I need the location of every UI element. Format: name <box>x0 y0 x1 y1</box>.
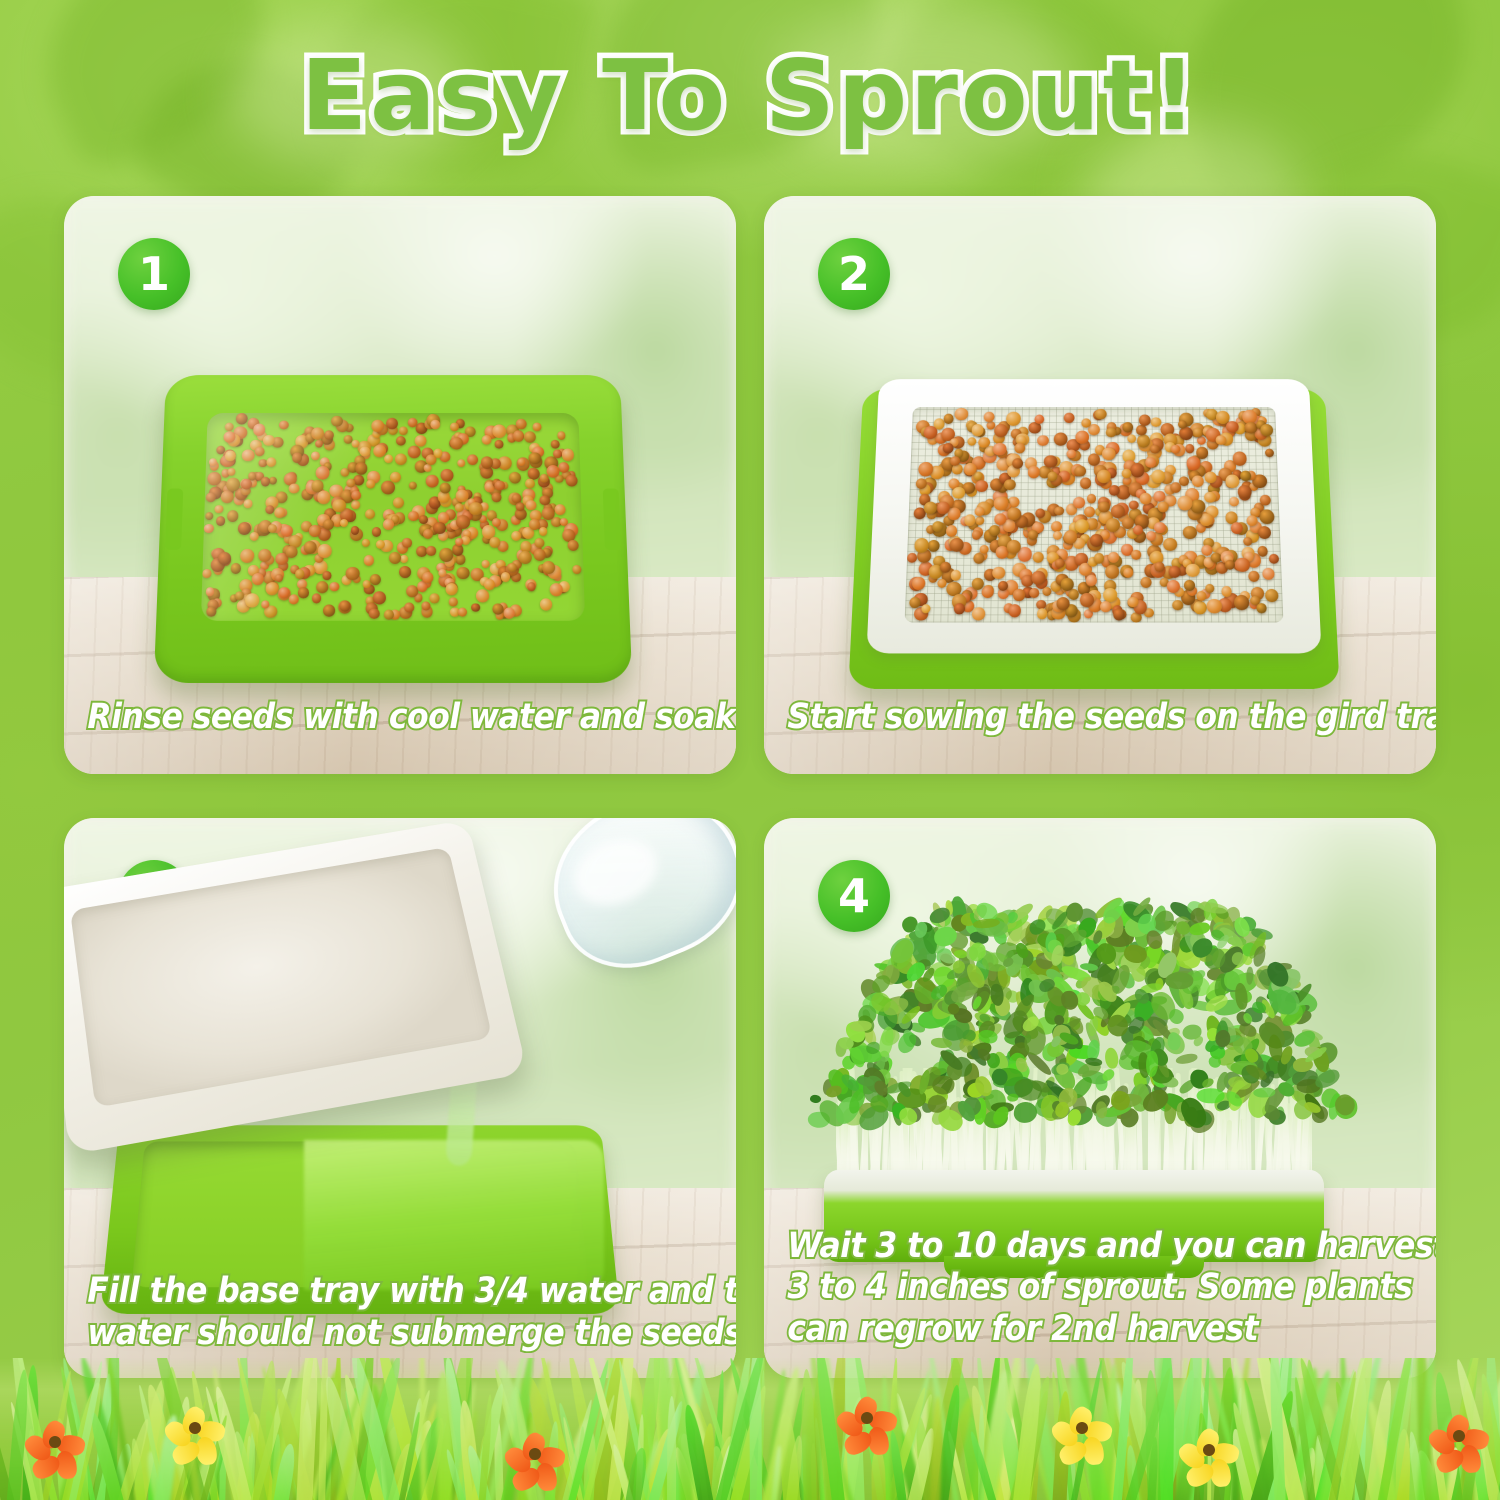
caption-line: Start sowing the seeds on the gird tray <box>787 697 1345 738</box>
steps-grid: 1 Rinse seeds with cool water and soak 2… <box>64 196 1436 1378</box>
green-base-tray <box>848 388 1339 689</box>
tray-handle-left <box>165 489 183 550</box>
flower-icon <box>168 1402 222 1454</box>
step-1-caption: Rinse seeds with cool water and soak <box>64 697 669 738</box>
step-4-caption: Wait 3 to 10 days and you can harvest 3 … <box>764 1226 1369 1350</box>
flower-icon <box>1432 1410 1486 1462</box>
flower-icon <box>508 1428 562 1480</box>
step-2-badge: 2 <box>818 238 890 310</box>
caption-line: can regrow for 2nd harvest <box>787 1309 1345 1350</box>
step-card-3: 3 Fill the base tray with 3/4 water and … <box>64 818 736 1378</box>
flower-icon <box>1055 1402 1109 1454</box>
page-title-container: Easy To Sprout! <box>0 36 1500 154</box>
step-card-1: 1 Rinse seeds with cool water and soak <box>64 196 736 774</box>
step-3-caption: Fill the base tray with 3/4 water and th… <box>64 1271 669 1354</box>
tray-interior-with-seeds <box>201 413 585 621</box>
grid-mesh-with-seeds <box>905 407 1284 622</box>
sprout-leaf-canopy <box>812 902 1332 1110</box>
white-grid-tray <box>866 379 1321 653</box>
caption-line: water should not submerge the seeds <box>87 1313 645 1354</box>
green-soaking-tray <box>154 375 633 683</box>
step-card-2: 2 Start sowing the seeds on the gird tra… <box>764 196 1436 774</box>
flower-icon <box>1182 1424 1236 1476</box>
tray-handle-right <box>603 489 621 550</box>
step-card-4: 4 Wait 3 to 10 days and you can harvest … <box>764 818 1436 1378</box>
flower-icon <box>28 1416 82 1468</box>
caption-line: Fill the base tray with 3/4 water and th… <box>87 1271 645 1312</box>
flower-icon <box>840 1392 894 1444</box>
caption-line: Wait 3 to 10 days and you can harvest <box>787 1226 1345 1267</box>
page-title: Easy To Sprout! <box>301 39 1200 152</box>
step-1-badge: 1 <box>118 238 190 310</box>
caption-line: 3 to 4 inches of sprout. Some plants <box>787 1267 1345 1308</box>
step-2-caption: Start sowing the seeds on the gird tray <box>764 697 1369 738</box>
step-4-badge: 4 <box>818 860 890 932</box>
caption-line: Rinse seeds with cool water and soak <box>87 697 645 738</box>
grass-border-decoration <box>0 1358 1500 1500</box>
